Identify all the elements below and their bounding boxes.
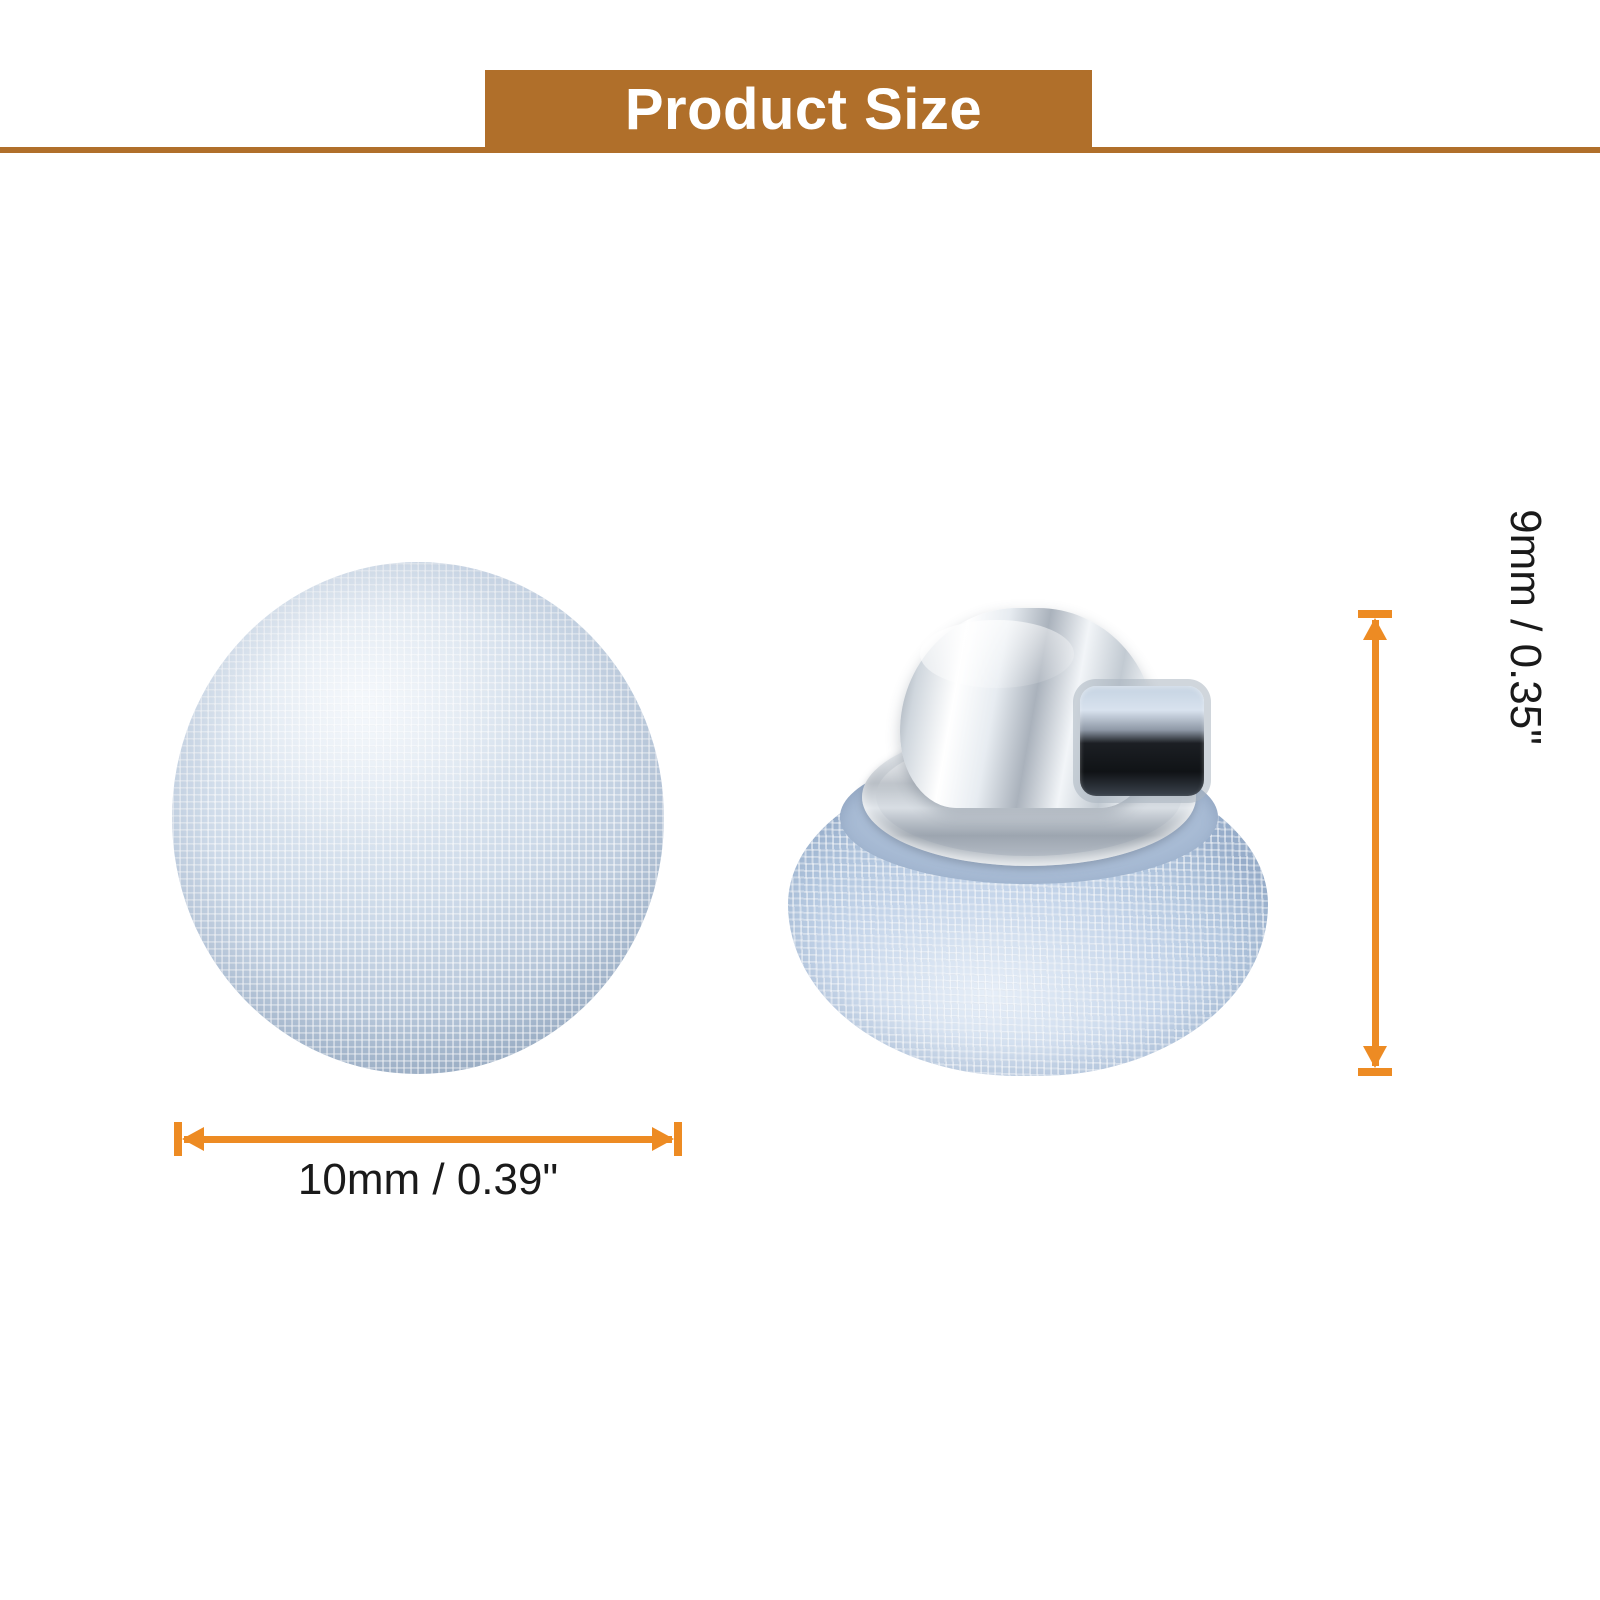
width-left-tick [174,1122,182,1156]
width-arrow-shaft [184,1136,672,1143]
width-right-tick [674,1122,682,1156]
width-dimension-label: 10mm / 0.39" [174,1152,682,1207]
height-top-tick [1358,610,1392,618]
page-title: Product Size [625,81,982,139]
button-side-view-image [788,608,1268,1076]
width-dimension-arrow [174,1122,682,1156]
product-size-banner: Product Size [485,70,1092,150]
height-arrow-shaft [1372,620,1379,1066]
height-bottom-arrowhead-icon [1363,1046,1387,1068]
metal-shank-loop [900,608,1156,808]
width-right-arrowhead-icon [652,1127,674,1151]
width-left-arrowhead-icon [182,1127,204,1151]
height-dimension-label: 9mm / 0.35" [1508,394,1542,860]
height-dimension-arrow [1358,610,1392,1076]
height-bottom-tick [1358,1068,1392,1076]
button-front-view-image [172,562,664,1074]
header-divider-rule [0,147,1600,153]
shank-hole [1080,686,1204,796]
fabric-dome-front [172,562,664,1074]
height-top-arrowhead-icon [1363,618,1387,640]
product-size-infographic: Product Size 10mm / 0.39" 9mm / 0.35" [0,0,1600,1600]
